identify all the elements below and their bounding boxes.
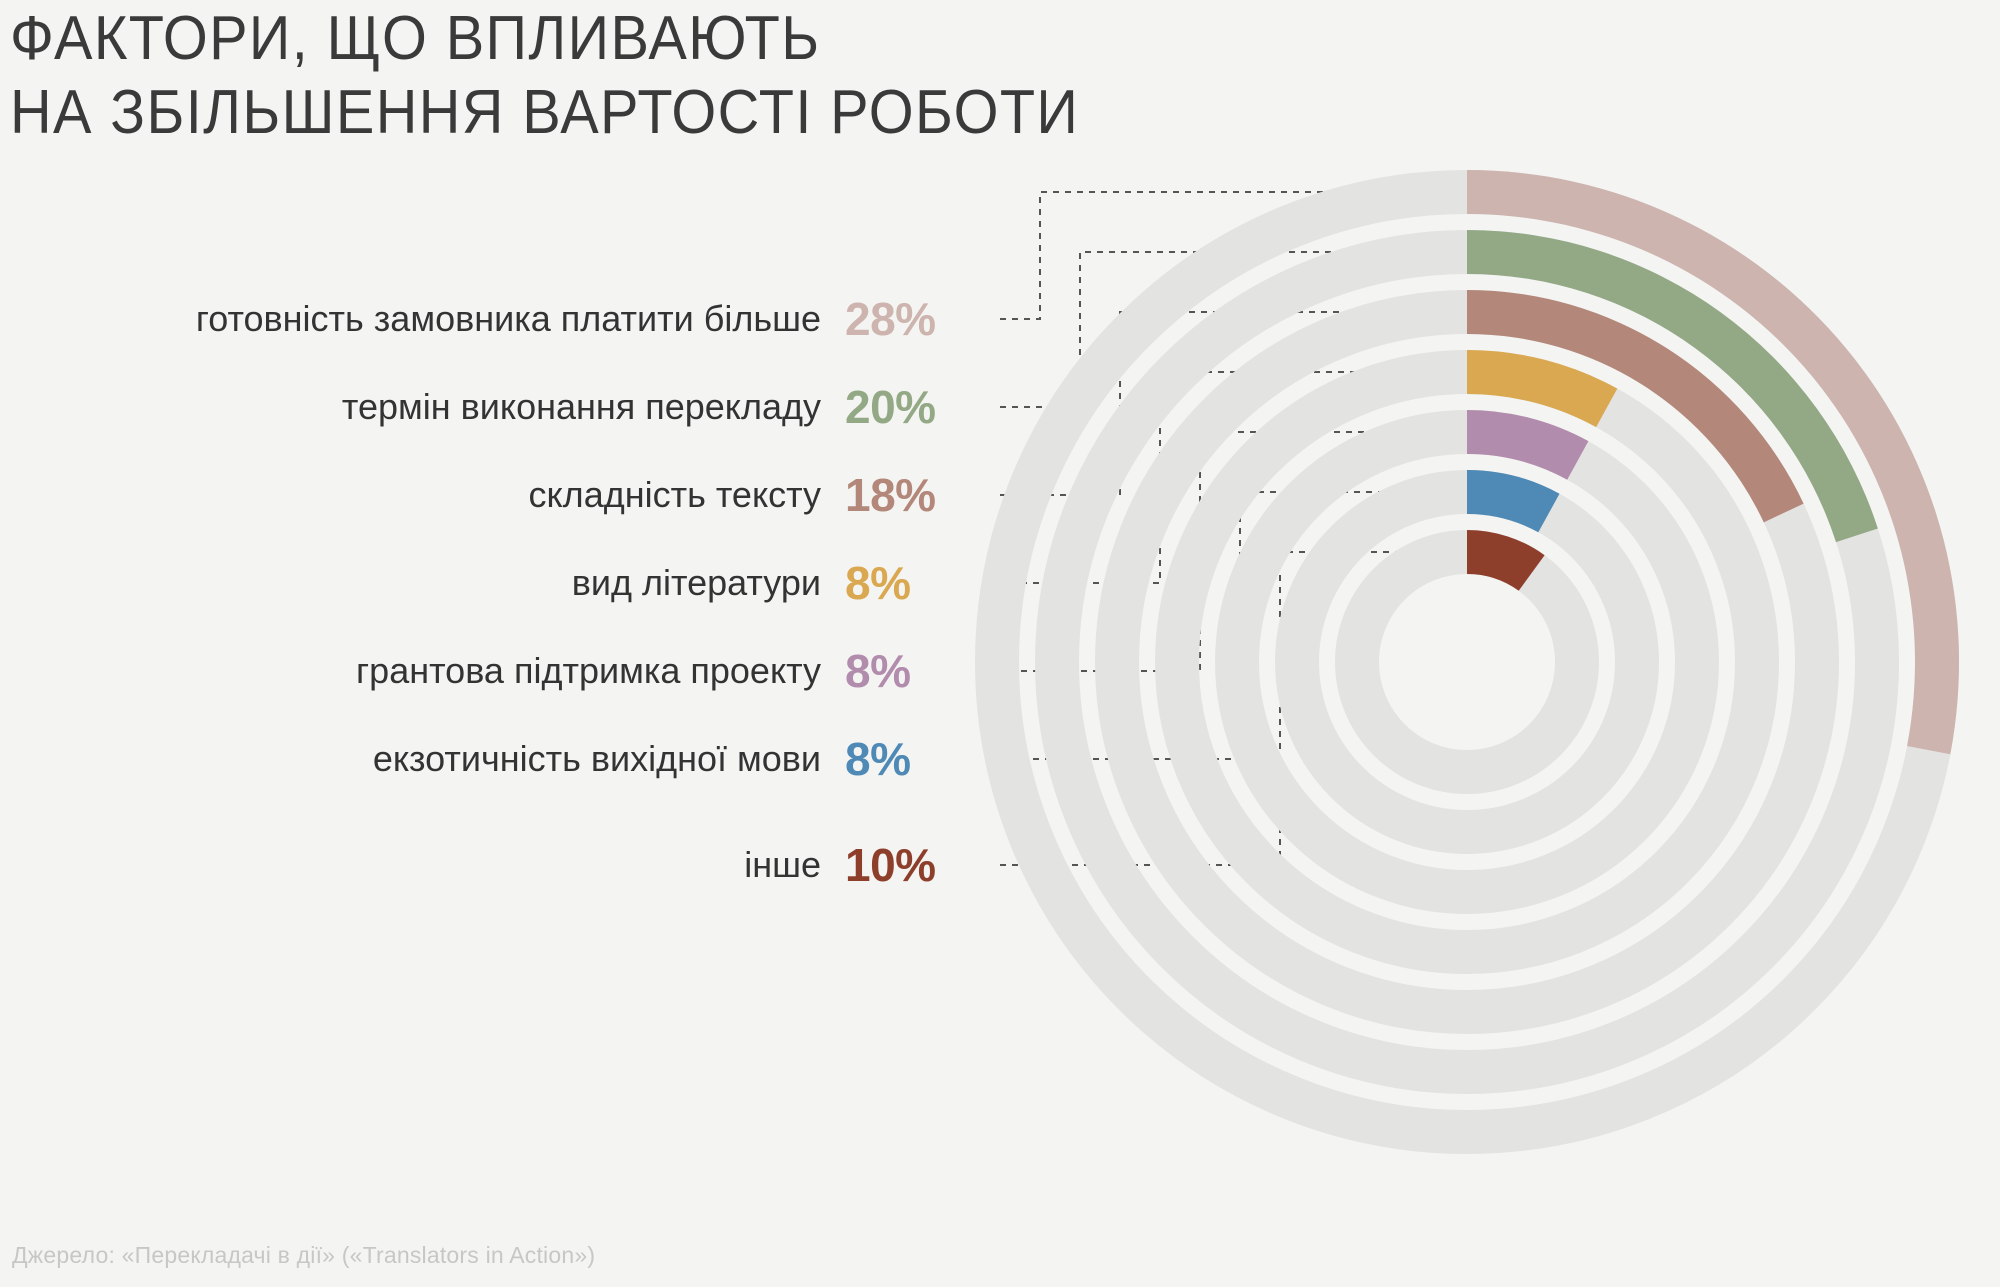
legend-item-label: термін виконання перекладу [342, 386, 821, 428]
legend-item-label: екзотичність вихідної мови [373, 738, 821, 780]
legend-item-value: 18% [845, 472, 985, 518]
chart-svg [975, 170, 1985, 1180]
legend-item[interactable]: екзотичність вихідної мови8% [0, 730, 985, 788]
radial-donut-chart [975, 170, 1985, 1180]
legend-item-label: готовність замовника платити більше [196, 298, 821, 340]
legend-item-value: 8% [845, 736, 985, 782]
page-title-line-1: ФАКТОРИ, ЩО ВПЛИВАЮТЬ [10, 2, 1312, 76]
legend-item[interactable]: інше10% [0, 836, 985, 894]
legend-item[interactable]: готовність замовника платити більше28% [0, 290, 985, 348]
legend-item-label: грантова підтримка проекту [356, 650, 821, 692]
source-note: Джерело: «Перекладачі в дії» («Translato… [12, 1242, 595, 1269]
legend-item-value: 10% [845, 842, 985, 888]
legend-item[interactable]: складність тексту18% [0, 466, 985, 524]
legend-item-value: 8% [845, 560, 985, 606]
legend-item-value: 20% [845, 384, 985, 430]
legend-item[interactable]: термін виконання перекладу20% [0, 378, 985, 436]
legend-item-value: 28% [845, 296, 985, 342]
legend-item-label: складність тексту [529, 474, 821, 516]
legend-item[interactable]: вид літератури8% [0, 554, 985, 612]
page-title: ФАКТОРИ, ЩО ВПЛИВАЮТЬ НА ЗБІЛЬШЕННЯ ВАРТ… [10, 2, 1410, 150]
chart-center-hole [1385, 580, 1549, 744]
legend-item-label: вид літератури [572, 562, 821, 604]
legend-item-value: 8% [845, 648, 985, 694]
ring-value-arc[interactable] [1467, 410, 1588, 480]
page-title-line-2: НА ЗБІЛЬШЕННЯ ВАРТОСТІ РОБОТИ [10, 76, 1312, 150]
legend-item[interactable]: грантова підтримка проекту8% [0, 642, 985, 700]
legend-item-label: інше [744, 844, 821, 886]
